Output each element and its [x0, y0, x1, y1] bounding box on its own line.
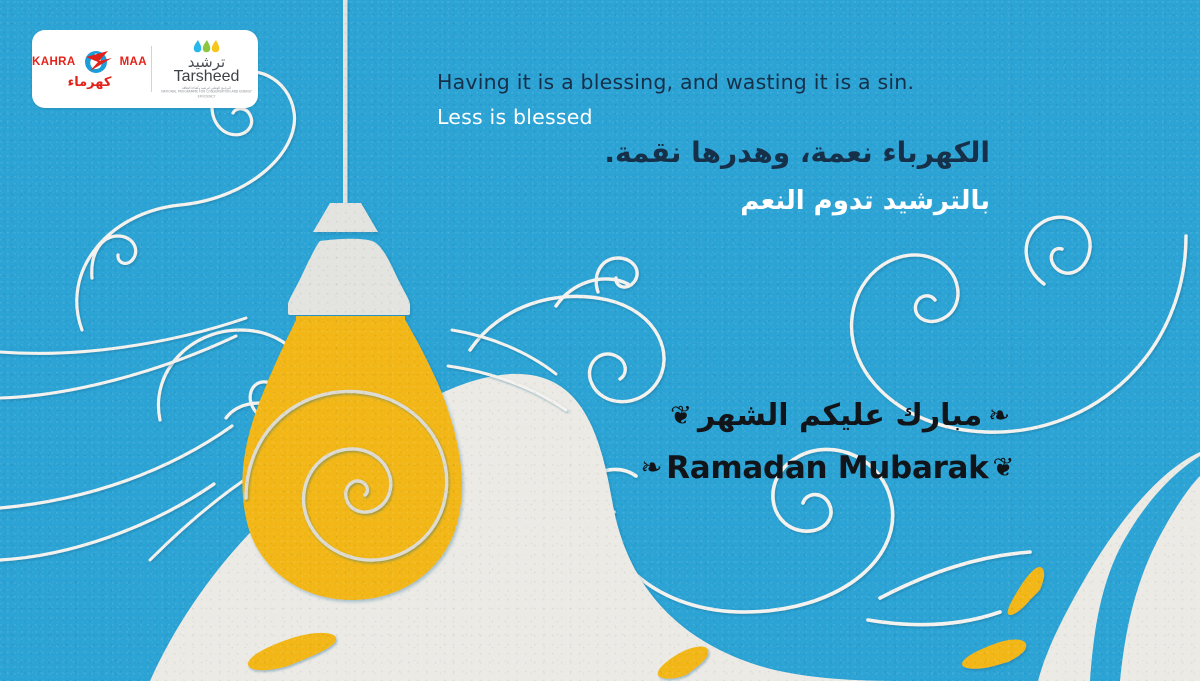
logo-card: KAHRA MAA كهرماء ترشيد Tarsheed البرنامج…	[32, 30, 258, 108]
tarsheed-logo: ترشيد Tarsheed البرنامج الوطني لترشيد وك…	[159, 39, 255, 99]
flourish-right-en-icon: ❦	[993, 455, 1015, 481]
swirl-sweep-left	[0, 318, 272, 560]
greeting-english-row: ❧ Ramadan Mubarak ❦	[641, 450, 1014, 486]
flourish-left-icon: ❧	[988, 403, 1010, 429]
slogan-arabic-line2: بالترشيد تدوم النعم	[740, 186, 990, 216]
kahramaa-arabic: كهرماء	[68, 76, 112, 89]
greeting-arabic-text: مبارك عليكم الشهر	[698, 398, 982, 433]
kahramaa-logo: KAHRA MAA كهرماء	[36, 49, 144, 89]
tarsheed-subtitle-en: NATIONAL PROGRAMME FOR CONSERVATION AND …	[159, 91, 255, 100]
flourish-right-icon: ❦	[670, 403, 692, 429]
flourish-left-en-icon: ❧	[641, 455, 663, 481]
greeting-arabic-row: ❧ مبارك عليكم الشهر ❦	[670, 398, 1010, 433]
flame-bolt-icon	[78, 49, 118, 75]
greeting-english-text: Ramadan Mubarak	[666, 450, 988, 486]
bulb-cap	[288, 239, 410, 315]
slogan-arabic-line1: الكهرباء نعمة، وهدرها نقمة.	[604, 136, 990, 169]
logo-divider	[151, 46, 152, 92]
tarsheed-english: Tarsheed	[174, 69, 240, 86]
swirl-decorations-left	[77, 72, 306, 420]
slogan-english-line1: Having it is a blessing, and wasting it …	[437, 70, 914, 94]
bulb-cord	[343, 0, 348, 205]
kahramaa-name-right: MAA	[120, 56, 147, 68]
bulb-canopy	[313, 203, 378, 232]
poster-canvas: KAHRA MAA كهرماء ترشيد Tarsheed البرنامج…	[0, 0, 1200, 681]
slogan-english-line2: Less is blessed	[437, 105, 593, 129]
kahramaa-name-left: KAHRA	[32, 56, 76, 68]
swirl-sweep-bottom-left	[0, 426, 232, 560]
